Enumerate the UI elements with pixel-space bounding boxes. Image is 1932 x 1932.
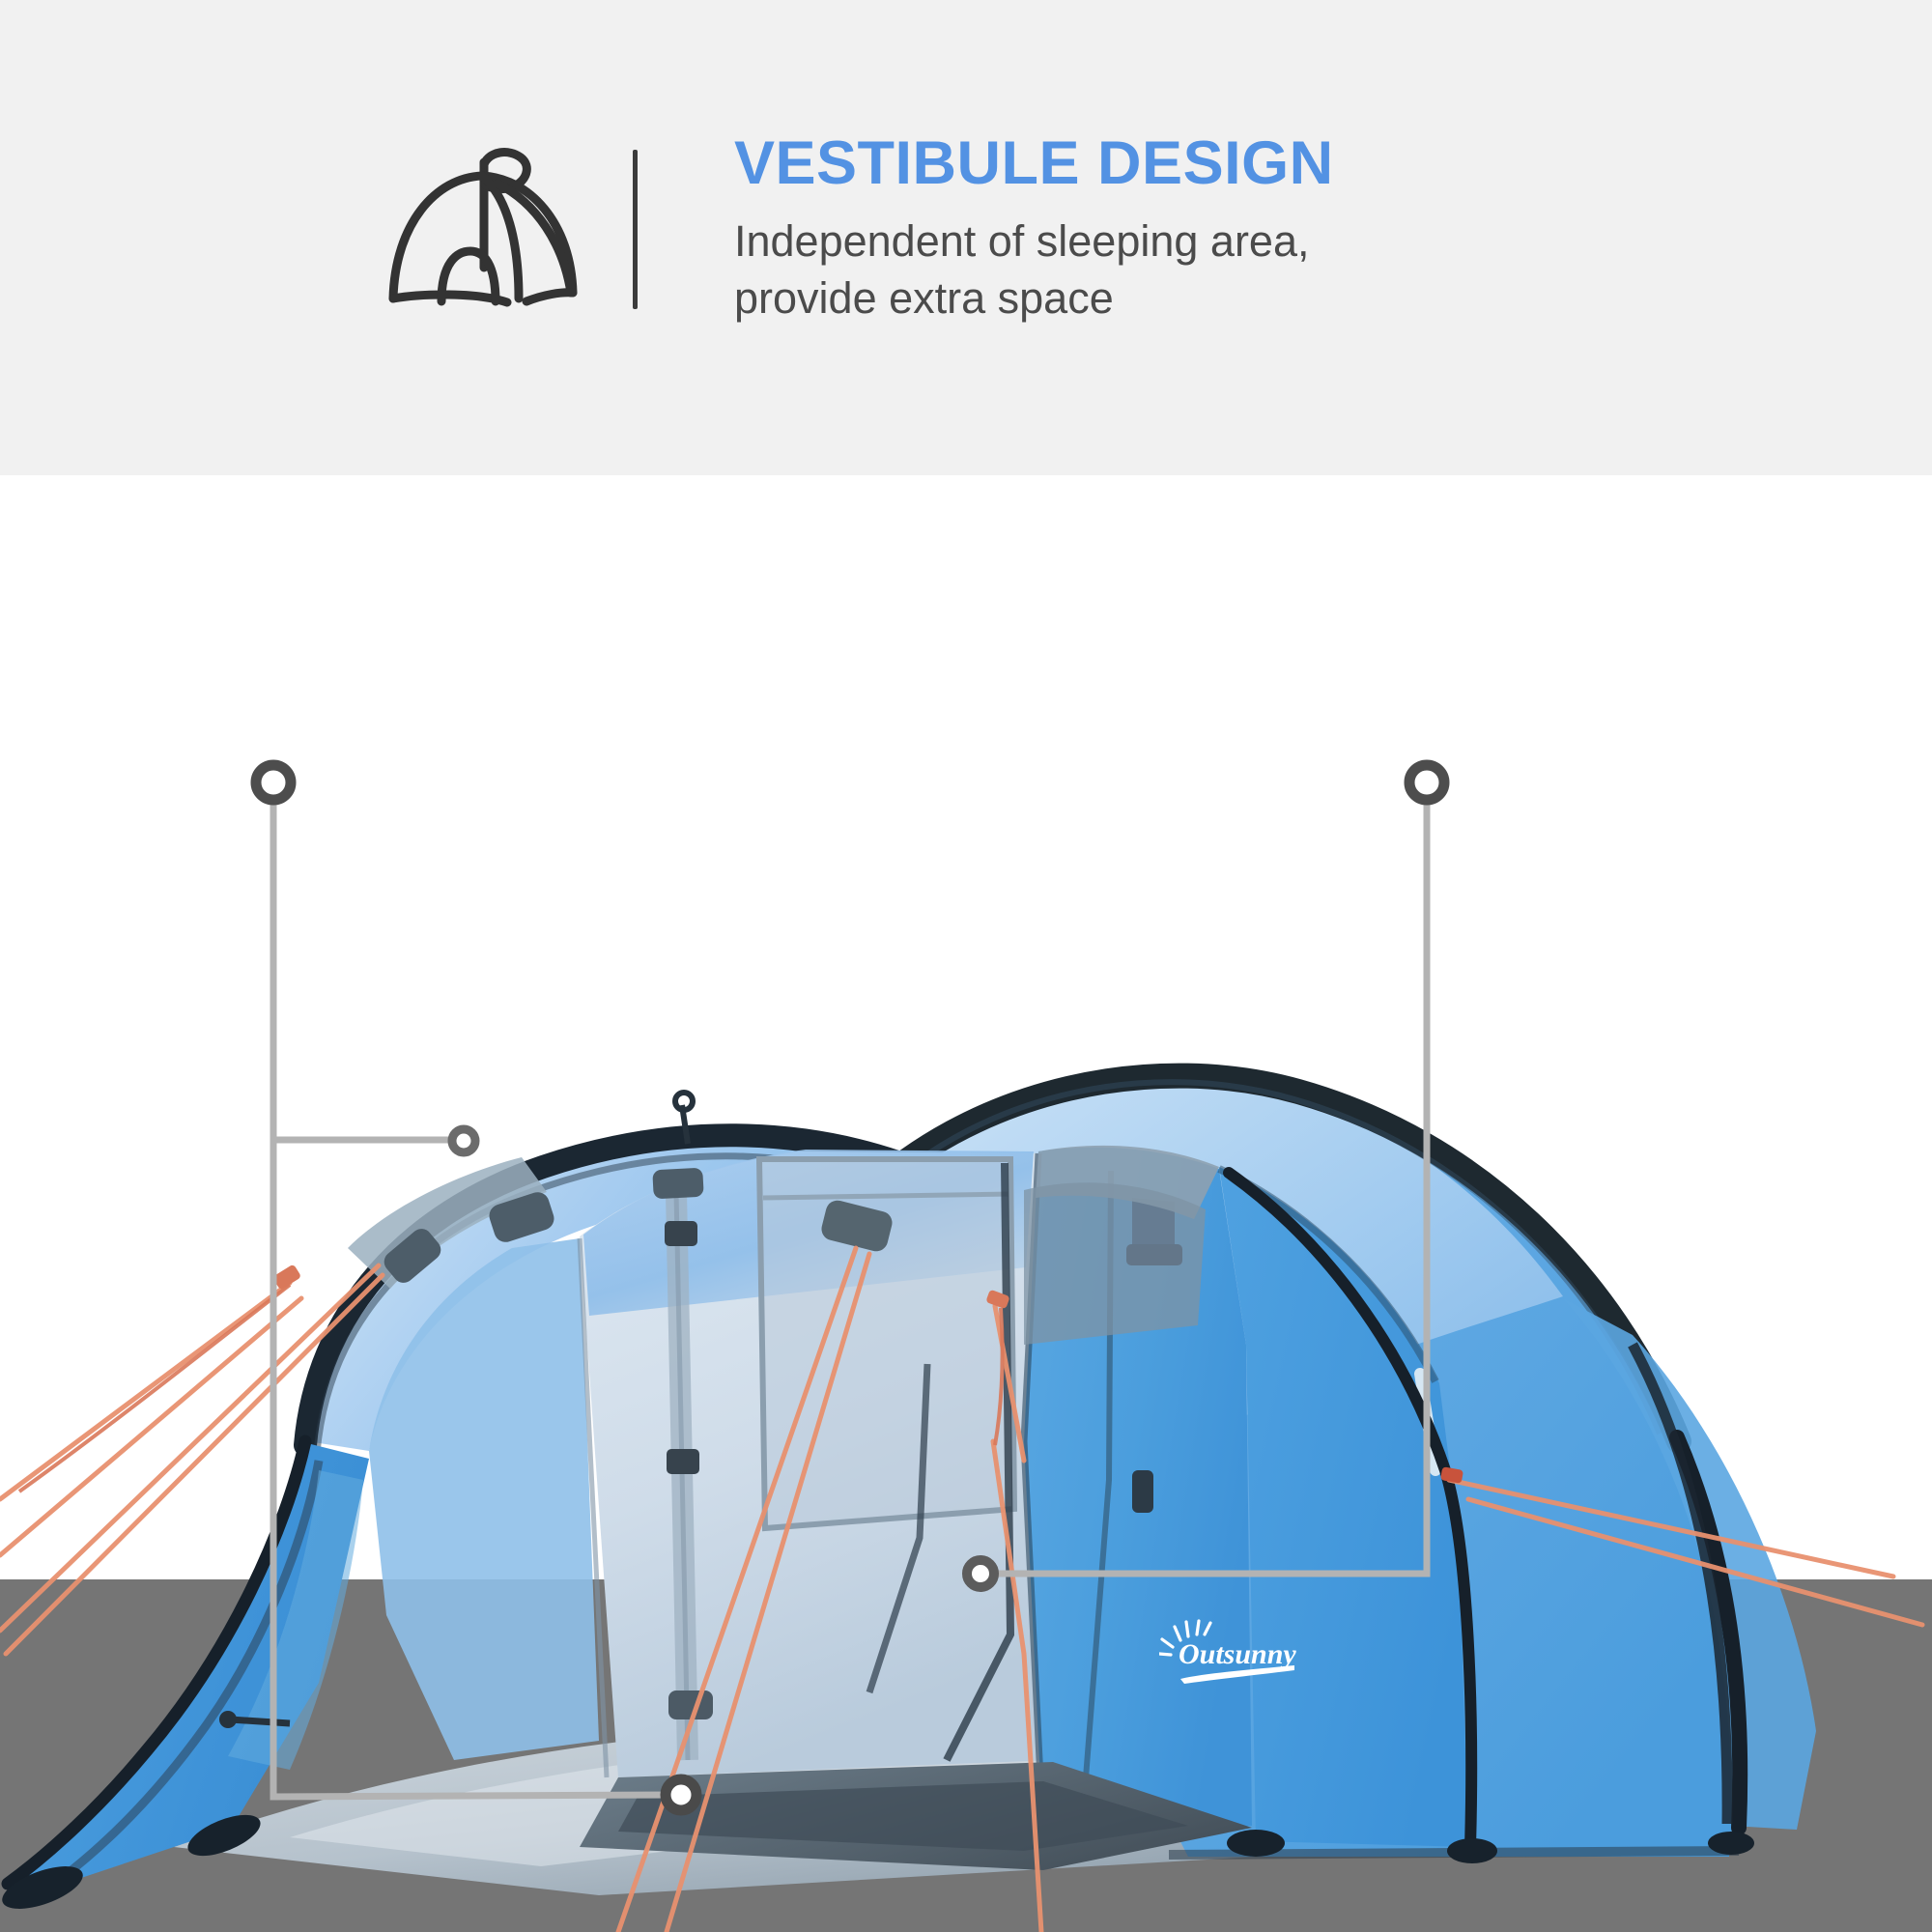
header-text-block: VESTIBULE DESIGN Independent of sleeping… [734, 131, 1334, 327]
header-divider [633, 150, 638, 309]
header-band: VESTIBULE DESIGN Independent of sleeping… [0, 0, 1932, 475]
tent-illustration [0, 475, 1932, 1932]
header-title: VESTIBULE DESIGN [734, 131, 1334, 195]
header-subtitle: Independent of sleeping area, provide ex… [734, 213, 1334, 327]
header-content: VESTIBULE DESIGN Independent of sleeping… [382, 128, 1334, 330]
dome-tent-with-flag-icon [382, 128, 604, 330]
product-photo [0, 475, 1932, 1932]
